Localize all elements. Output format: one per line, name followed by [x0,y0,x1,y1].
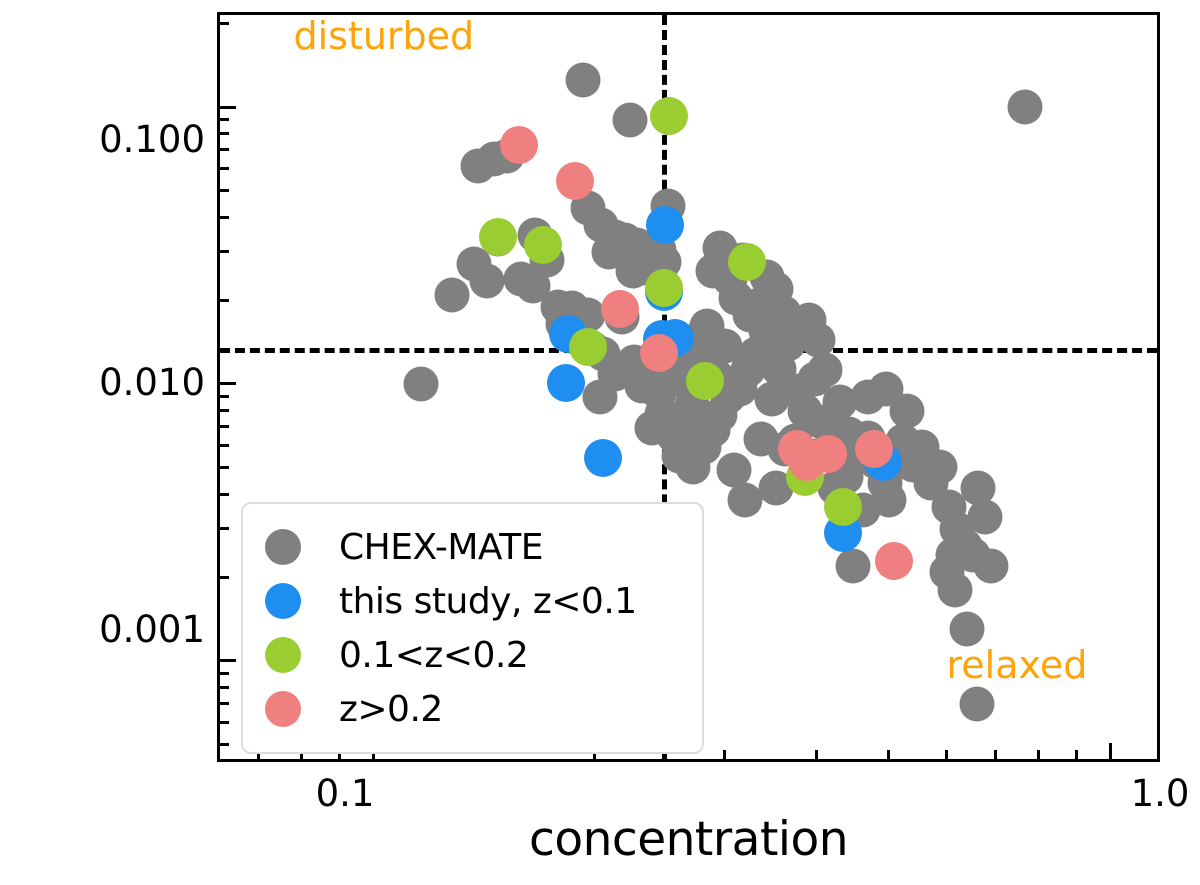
y-tick [220,686,229,689]
data-point [935,538,970,573]
legend-swatch-high-z [265,691,301,727]
data-point [479,218,517,256]
data-point [695,254,730,289]
y-tick [220,216,229,219]
y-tick [220,444,229,447]
x-tick [887,750,890,759]
data-point [923,450,958,485]
x-tick-top [220,90,223,99]
x-tick-top [220,196,223,205]
y-tick [220,250,229,253]
y-tick [220,576,229,579]
data-point [646,206,684,244]
data-point [872,483,907,518]
data-point [824,488,862,526]
annotation-relaxed: relaxed [947,643,1088,687]
plot-area: disturbed relaxed CHEX-MATE this study, … [217,12,1160,762]
x-tick [723,750,726,759]
y-tick [220,466,229,469]
data-point [566,63,601,98]
data-point [569,328,607,366]
y-tick [220,672,229,675]
data-point [500,126,538,164]
y-axis-title-text: centroid-shift [0,290,8,594]
data-point [470,264,505,299]
data-point [601,290,639,328]
y-tick-label-0100: 0.100 [55,118,205,161]
data-point [524,226,562,264]
x-tick-top [220,169,223,178]
x-tick-top [220,178,223,187]
y-tick [220,721,229,724]
data-point [967,500,1002,535]
y-tick [220,382,236,385]
legend-swatch-this-study [265,583,301,619]
data-point [612,102,647,137]
data-point [1007,90,1042,125]
data-point [723,371,758,406]
legend: CHEX-MATE this study, z<0.1 0.1<z<0.2 z>… [241,502,704,754]
y-tick [220,22,229,25]
legend-label-chex-mate: CHEX-MATE [339,527,543,568]
x-tick-top [220,108,223,117]
y-tick-label-0001: 0.001 [55,608,205,651]
data-point [836,548,871,583]
y-tick [220,299,229,302]
legend-item[interactable]: this study, z<0.1 [265,574,684,628]
x-tick [1075,750,1078,759]
annotation-disturbed: disturbed [293,14,474,58]
x-axis-title: concentration [217,812,1160,867]
legend-swatch-chex-mate [265,529,301,565]
x-tick-label-10: 1.0 [1090,772,1200,815]
y-tick [220,167,229,170]
y-tick [220,425,229,428]
data-point [974,548,1009,583]
data-point [875,542,913,580]
data-point [807,353,842,388]
x-tick [945,750,948,759]
data-point [645,269,683,307]
legend-item[interactable]: 0.1<z<0.2 [265,628,684,682]
data-point [728,243,766,281]
data-point [556,162,594,200]
y-tick [220,118,229,121]
legend-item[interactable]: CHEX-MATE [265,520,684,574]
x-tick-top [220,151,223,160]
y-tick [220,702,229,705]
y-tick [220,409,229,412]
x-tick-label-01: 0.1 [275,772,415,815]
y-tick [220,493,229,496]
x-tick [1037,750,1040,759]
data-point [686,362,724,400]
data-point [584,439,622,477]
data-point [809,435,847,473]
data-point [640,334,678,372]
y-tick [220,132,229,135]
legend-item[interactable]: z>0.2 [265,682,684,736]
y-tick [220,395,229,398]
legend-label-this-study: this study, z<0.1 [339,581,637,622]
data-point [435,277,470,312]
data-point [868,371,903,406]
data-point [937,573,972,608]
legend-label-high-z: z>0.2 [339,689,443,730]
scatter-plot-figure: centroid-shift concentration 0.100 0.010… [0,0,1200,885]
data-point [855,430,893,468]
data-point [801,323,836,358]
y-tick [220,659,236,662]
y-tick [220,148,229,151]
x-tick [1109,743,1112,759]
data-point [650,97,688,135]
y-tick [220,106,236,109]
y-tick [220,743,229,746]
data-point [960,686,995,721]
data-point [403,366,438,401]
y-tick [220,189,229,192]
legend-label-mid-z: 0.1<z<0.2 [339,635,528,676]
data-point [950,612,985,647]
x-tick [994,750,997,759]
legend-swatch-mid-z [265,637,301,673]
data-point [547,364,585,402]
x-tick [815,750,818,759]
y-tick [220,527,229,530]
y-tick-label-0010: 0.010 [55,361,205,404]
